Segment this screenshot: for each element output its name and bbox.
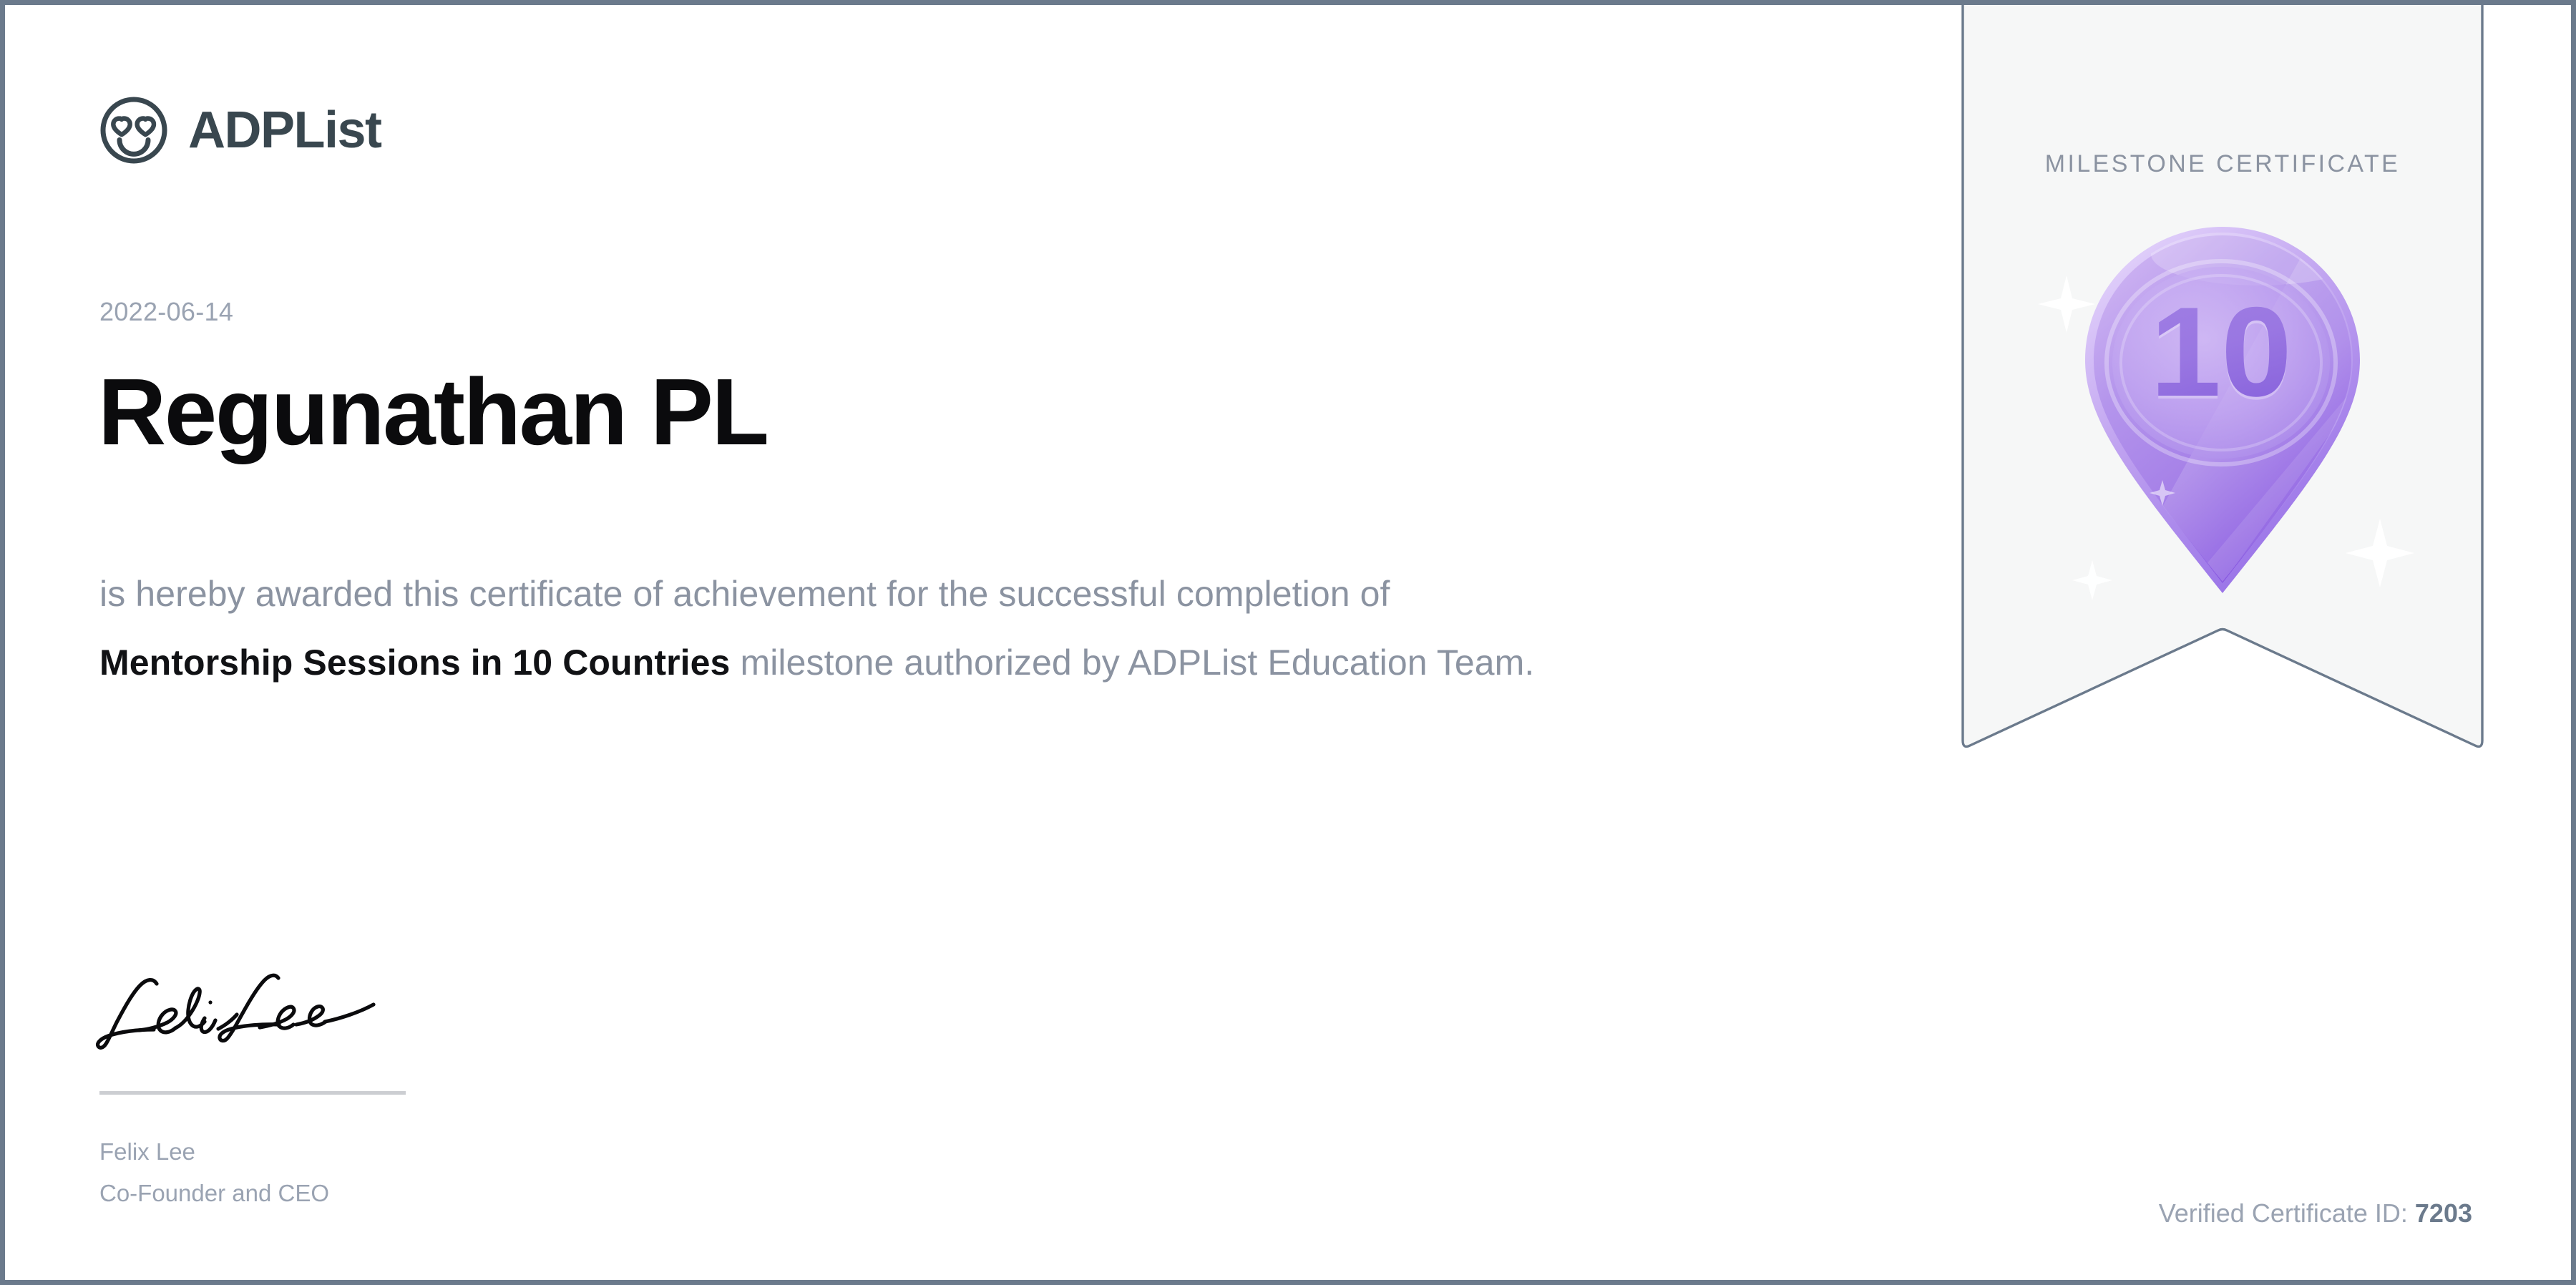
recipient-name: Regunathan PL [98, 363, 768, 462]
signature-block: Felix Lee Co-Founder and CEO [98, 964, 499, 1064]
svg-text:10: 10 [2150, 280, 2292, 423]
award-body-text: is hereby awarded this certificate of ac… [99, 560, 1538, 697]
brand-logo: ADPList [98, 94, 381, 166]
signatory-info: Felix Lee Co-Founder and CEO [99, 1131, 329, 1214]
signatory-name: Felix Lee [99, 1131, 329, 1173]
brand-name: ADPList [188, 104, 381, 156]
award-text-lead: is hereby awarded this certificate of ac… [99, 574, 1390, 614]
ribbon-label: MILESTONE CERTIFICATE [1957, 150, 2488, 178]
signature-divider [99, 1091, 406, 1095]
milestone-title: Mentorship Sessions in 10 Countries [99, 642, 730, 683]
certificate-id-value: 7203 [2415, 1198, 2472, 1228]
verified-label: Verified Certificate ID: [2159, 1198, 2408, 1228]
smiley-heart-eyes-icon [98, 94, 170, 166]
milestone-ribbon: MILESTONE CERTIFICATE [1957, 0, 2488, 791]
issue-date: 2022-06-14 [99, 297, 233, 327]
certificate-content: ADPList 2022-06-14 Regunathan PL is here… [98, 5, 1815, 1280]
award-text-trail: milestone authorized by ADPList Educatio… [730, 642, 1534, 683]
certificate-card: ADPList 2022-06-14 Regunathan PL is here… [0, 0, 2576, 1285]
verified-certificate-id: Verified Certificate ID: 7203 [2159, 1198, 2472, 1228]
map-pin-badge-icon: 10 10 10 [2022, 204, 2423, 619]
milestone-badge: 10 10 10 [2022, 204, 2423, 619]
signatory-title: Co-Founder and CEO [99, 1173, 329, 1214]
handwritten-signature-icon [94, 964, 401, 1064]
